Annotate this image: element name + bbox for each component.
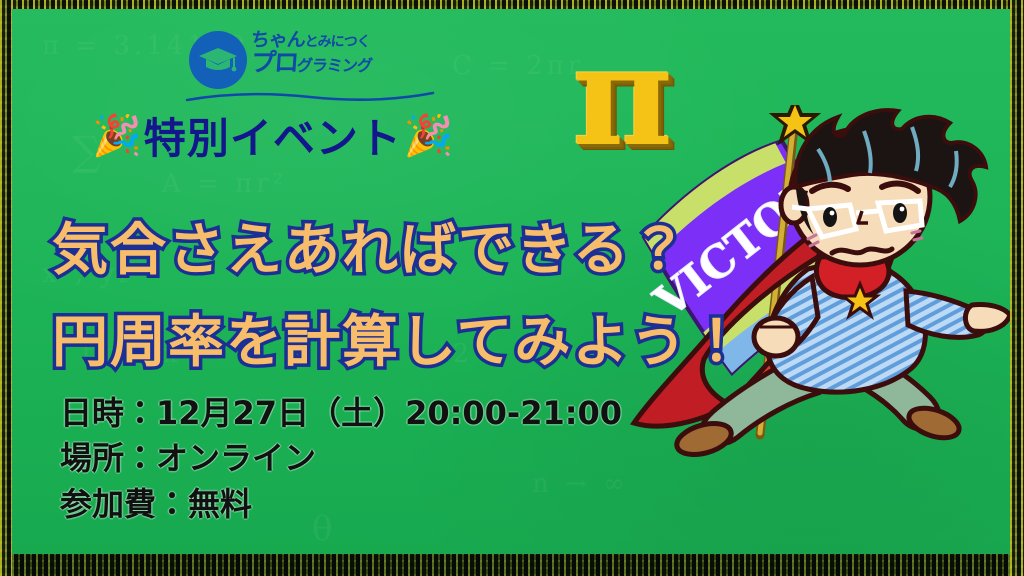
frame-border-right [1010,0,1024,576]
poster-board: π = 3.14159 C = 2πr ∑ A = πr² x², y₂ √2 … [12,9,1010,554]
shoe-right [905,403,962,444]
detail-fee: 参加費：無料 [60,482,622,527]
brand-logo[interactable]: ちゃんとみにつく プログラミング [189,25,439,107]
hand-pointing-right [965,304,1010,331]
mouth [832,249,892,253]
graduation-cap-icon [189,31,247,89]
hand-left [754,318,798,356]
logo-line-1: ちゃんとみにつく [250,25,442,50]
eye-left [823,207,837,227]
frame-border-top [0,0,1024,9]
head [781,110,986,265]
event-poster: π = 3.14159 C = 2πr ∑ A = πr² x², y₂ √2 … [0,0,1024,576]
chalk-mark: A = πr² [162,169,287,199]
chalk-mark: C = 2πr [452,51,584,81]
event-badge: 🎉 特別イベント 🎉 [92,105,454,166]
detail-datetime: 日時：12月27日（土）20:00-21:00 [60,391,622,436]
frame-border-bottom [0,554,1024,576]
detail-location: 場所：オンライン [60,436,622,481]
pi-symbol: π [572,27,722,162]
party-popper-icon-right: 🎉 [404,116,454,156]
headline-line-1: 気合さえあればできる？ [52,205,689,286]
logo-line-2: プログラミング [250,50,442,76]
headline-line-2: 円周率を計算してみよう！ [52,297,746,378]
event-details: 日時：12月27日（土）20:00-21:00 場所：オンライン 参加費：無料 [60,391,622,527]
frame-border-left [0,0,12,576]
party-popper-icon-left: 🎉 [92,116,142,156]
pi-glyph: π [572,27,673,165]
event-badge-title: 特別イベント [144,105,402,166]
logo-wordmark: ちゃんとみにつく プログラミング [251,25,441,76]
logo-underline-swoosh [185,89,435,105]
eye-right [893,203,907,223]
